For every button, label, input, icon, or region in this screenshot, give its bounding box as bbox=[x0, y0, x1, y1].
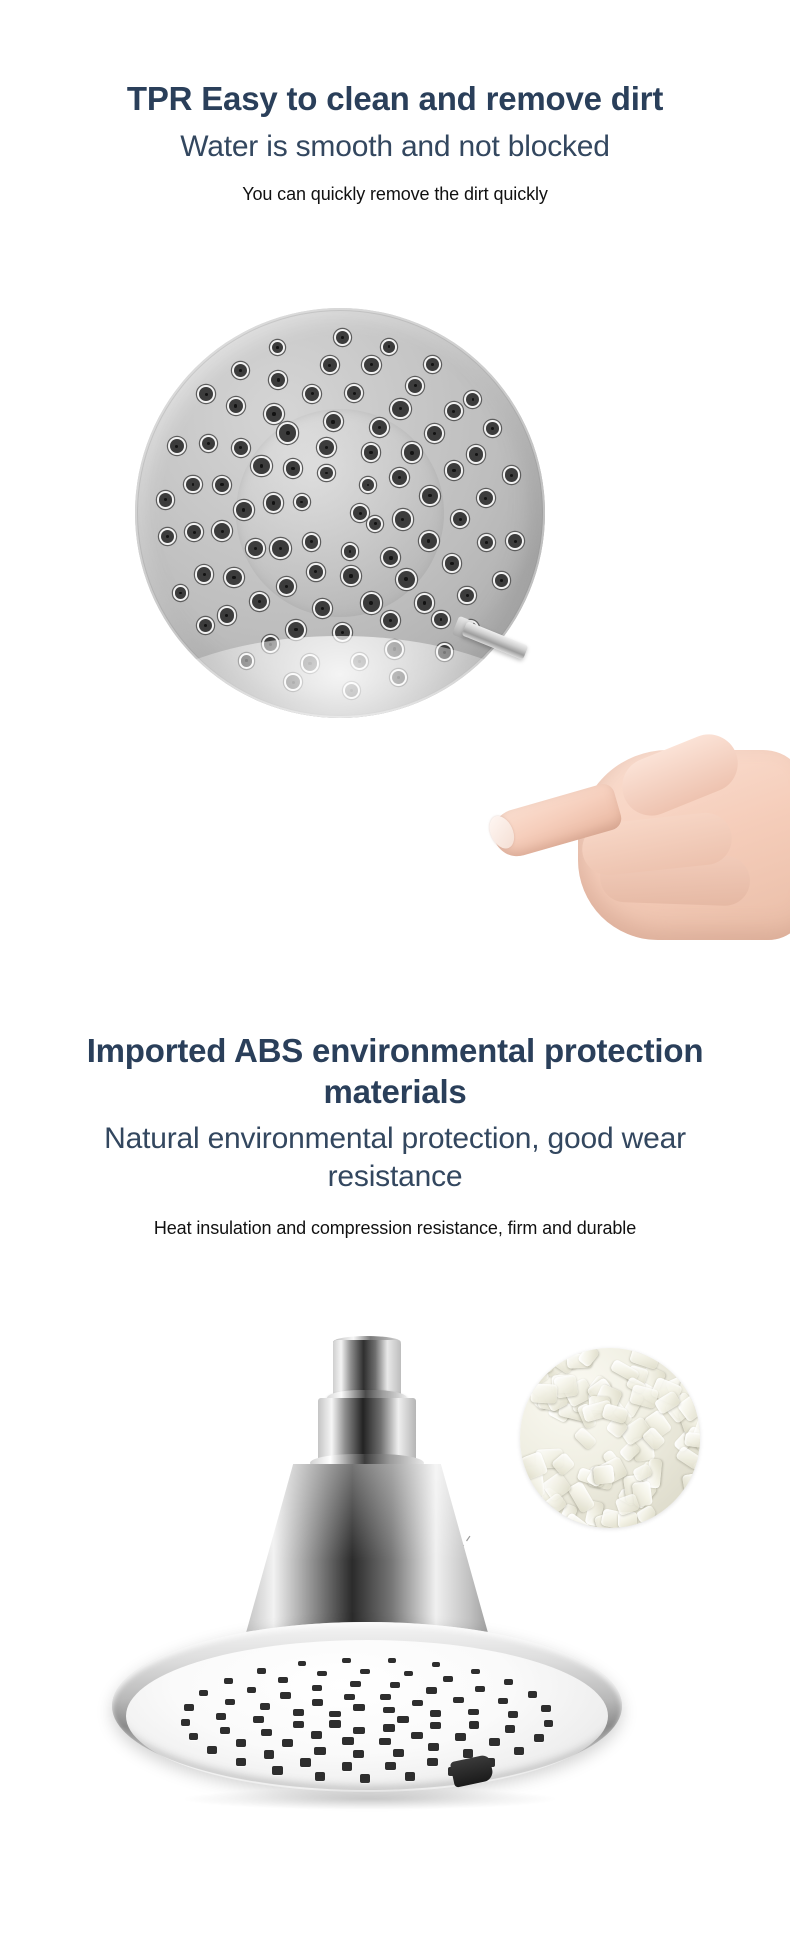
nozzle bbox=[288, 622, 304, 638]
nozzle bbox=[215, 478, 229, 492]
nozzle bbox=[286, 675, 300, 689]
nozzle bbox=[417, 595, 432, 610]
nozzle bbox=[319, 440, 334, 455]
nozzle bbox=[363, 594, 380, 611]
nozzle bbox=[266, 495, 281, 510]
nozzle bbox=[187, 525, 201, 539]
nozzle bbox=[344, 545, 357, 558]
showerhead-body bbox=[0, 1340, 790, 1950]
nozzle bbox=[364, 358, 378, 372]
nozzle bbox=[315, 601, 330, 616]
nozzle bbox=[323, 358, 337, 372]
drop-shadow bbox=[180, 1788, 560, 1810]
section-2-heading: Imported ABS environmental protection ma… bbox=[0, 1030, 790, 1112]
nozzle bbox=[336, 331, 349, 344]
nozzle bbox=[309, 565, 323, 579]
nozzle bbox=[408, 379, 422, 393]
nozzle bbox=[279, 424, 296, 441]
nozzle bbox=[362, 479, 374, 491]
nozzle bbox=[398, 571, 415, 588]
section-1-note: You can quickly remove the dirt quickly bbox=[0, 182, 790, 207]
nozzle bbox=[264, 637, 277, 650]
fingernail bbox=[485, 812, 519, 852]
nozzle bbox=[175, 587, 187, 599]
nozzle bbox=[447, 463, 462, 478]
nozzle bbox=[434, 613, 447, 626]
product-detail-page: TPR Easy to clean and remove dirt Water … bbox=[0, 0, 790, 1950]
nozzle bbox=[372, 420, 387, 435]
nozzle bbox=[266, 406, 282, 422]
nozzle bbox=[427, 426, 442, 441]
nozzle bbox=[220, 608, 234, 622]
nozzle bbox=[236, 502, 252, 518]
nozzle bbox=[392, 671, 405, 684]
nozzle bbox=[272, 540, 288, 556]
nozzle bbox=[326, 414, 341, 429]
body-cone-highlight bbox=[244, 1464, 490, 1640]
nozzle bbox=[226, 570, 242, 586]
section-1-product-image bbox=[0, 300, 790, 770]
spray-disc-rim bbox=[112, 1622, 622, 1790]
nozzle bbox=[392, 470, 407, 485]
nozzle bbox=[445, 556, 459, 570]
nozzle bbox=[296, 496, 308, 508]
nozzle bbox=[335, 625, 350, 640]
nozzle bbox=[197, 567, 212, 582]
nozzle bbox=[303, 656, 318, 671]
nozzle bbox=[404, 444, 421, 461]
nozzle bbox=[170, 439, 184, 453]
nozzle bbox=[253, 458, 269, 474]
nozzle bbox=[199, 387, 213, 401]
nozzle bbox=[343, 568, 358, 583]
nozzle bbox=[392, 401, 408, 417]
nozzle bbox=[383, 341, 395, 353]
nozzle bbox=[426, 358, 439, 371]
nozzle bbox=[486, 422, 499, 435]
nozzle bbox=[421, 533, 437, 549]
nozzle bbox=[422, 488, 438, 504]
nozzle bbox=[202, 437, 215, 450]
nozzle bbox=[159, 493, 173, 507]
nozzle bbox=[395, 511, 411, 527]
nozzle bbox=[369, 518, 381, 530]
nozzle bbox=[320, 467, 332, 479]
nozzle bbox=[241, 655, 253, 667]
nozzle bbox=[305, 535, 319, 549]
nozzle bbox=[234, 364, 247, 377]
section-abs-material-text: Imported ABS environmental protection ma… bbox=[0, 1030, 790, 1241]
section-1-subheading: Water is smooth and not blocked bbox=[0, 128, 790, 166]
nozzle bbox=[234, 441, 248, 455]
nozzle bbox=[186, 478, 199, 491]
section-2-subheading: Natural environmental protection, good w… bbox=[0, 1120, 790, 1196]
section-1-heading: TPR Easy to clean and remove dirt bbox=[0, 78, 790, 119]
nozzle bbox=[248, 541, 263, 556]
section-2-note: Heat insulation and compression resistan… bbox=[0, 1216, 790, 1241]
nozzle bbox=[438, 645, 452, 659]
nozzle bbox=[353, 655, 366, 668]
section-tpr-clean-text: TPR Easy to clean and remove dirt Water … bbox=[0, 78, 790, 207]
nozzle bbox=[387, 642, 402, 657]
section-2-product-image bbox=[0, 1340, 790, 1950]
nozzle bbox=[345, 684, 359, 698]
hand-illustration bbox=[470, 450, 790, 780]
